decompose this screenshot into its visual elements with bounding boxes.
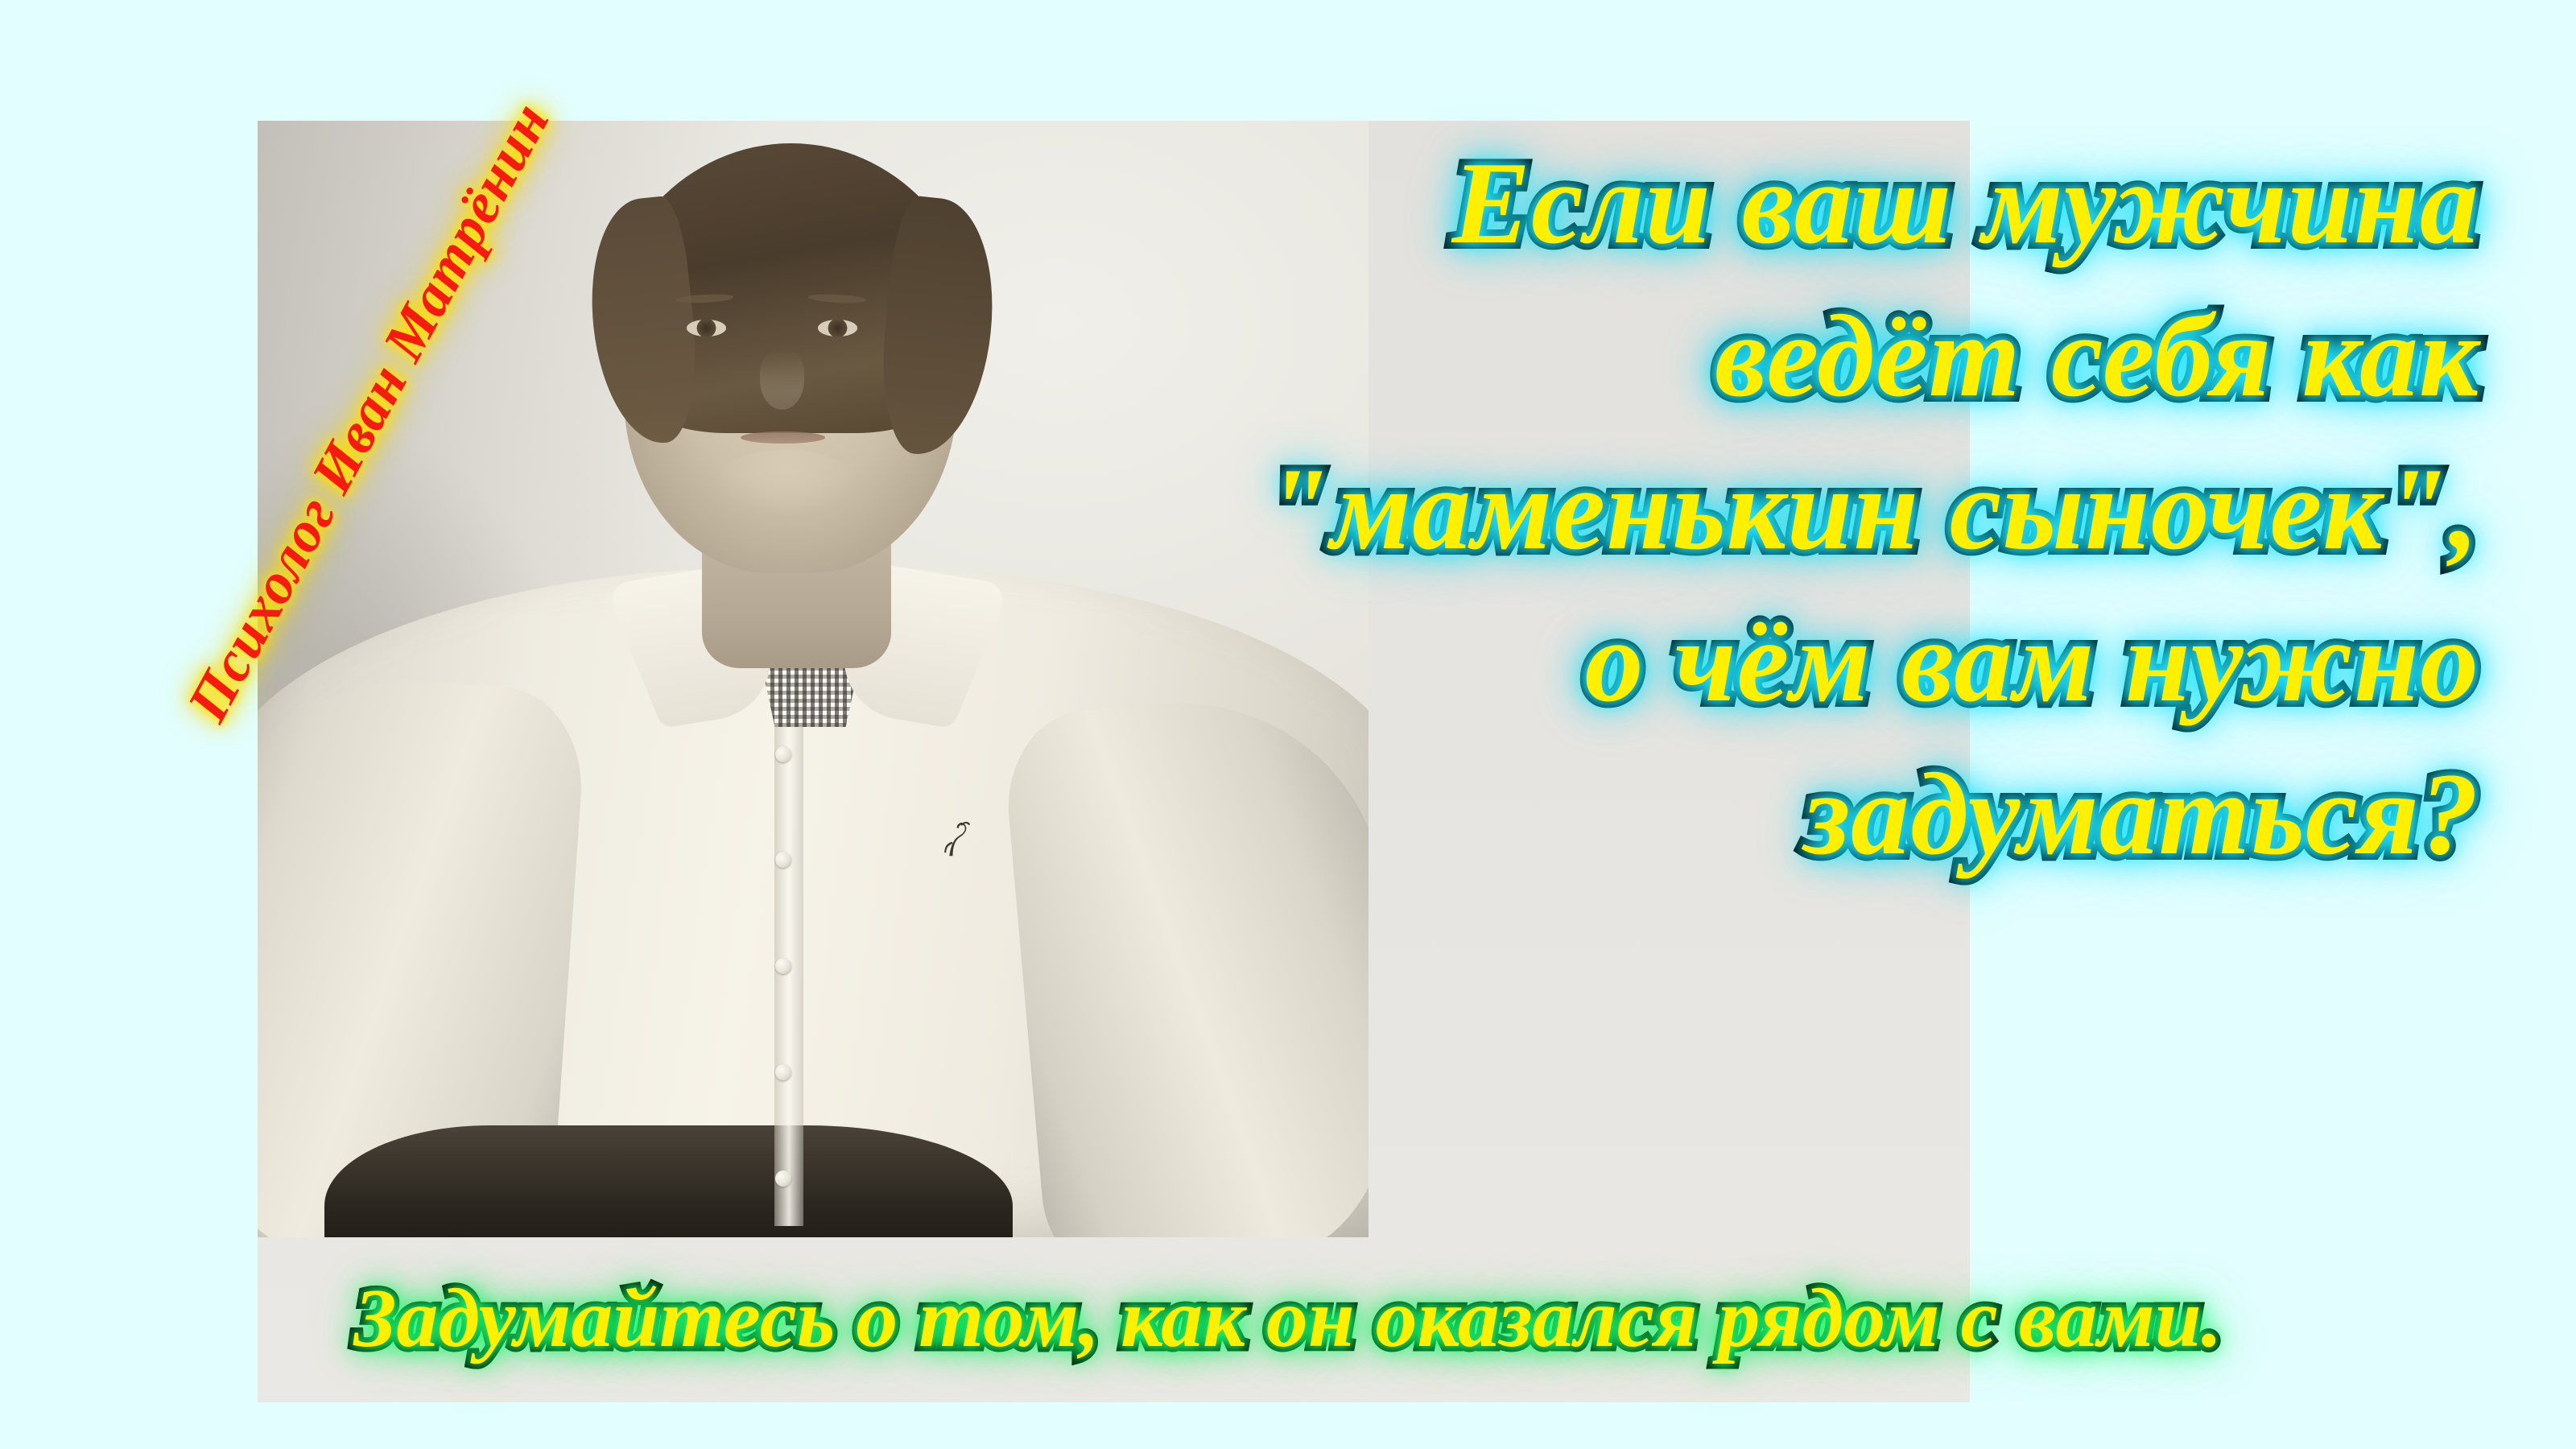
shirt-placket — [774, 646, 803, 1226]
headline-line-5: задуматься? — [974, 738, 2479, 891]
chin-highlight — [713, 450, 857, 517]
headline-line-2: ведёт себя как — [974, 280, 2479, 433]
shirt-button — [775, 1064, 791, 1080]
polo-pony-logo-icon — [941, 813, 974, 862]
headline-line-4: о чём вам нужно — [974, 585, 2479, 738]
shirt-button — [775, 746, 791, 762]
nose — [760, 349, 804, 410]
headline-line-3: "маменькин сыночек", — [974, 433, 2479, 586]
headline: Если ваш мужчина ведёт себя как "маменьк… — [974, 127, 2479, 891]
eye-left — [687, 320, 727, 336]
shirt-button — [775, 1170, 791, 1187]
headline-line-1: Если ваш мужчина — [974, 127, 2479, 280]
trousers — [324, 1125, 1013, 1237]
mouth — [741, 431, 825, 444]
eye-right — [818, 320, 858, 336]
bottom-caption: Задумайтесь о том, как он оказался рядом… — [0, 1270, 2576, 1366]
